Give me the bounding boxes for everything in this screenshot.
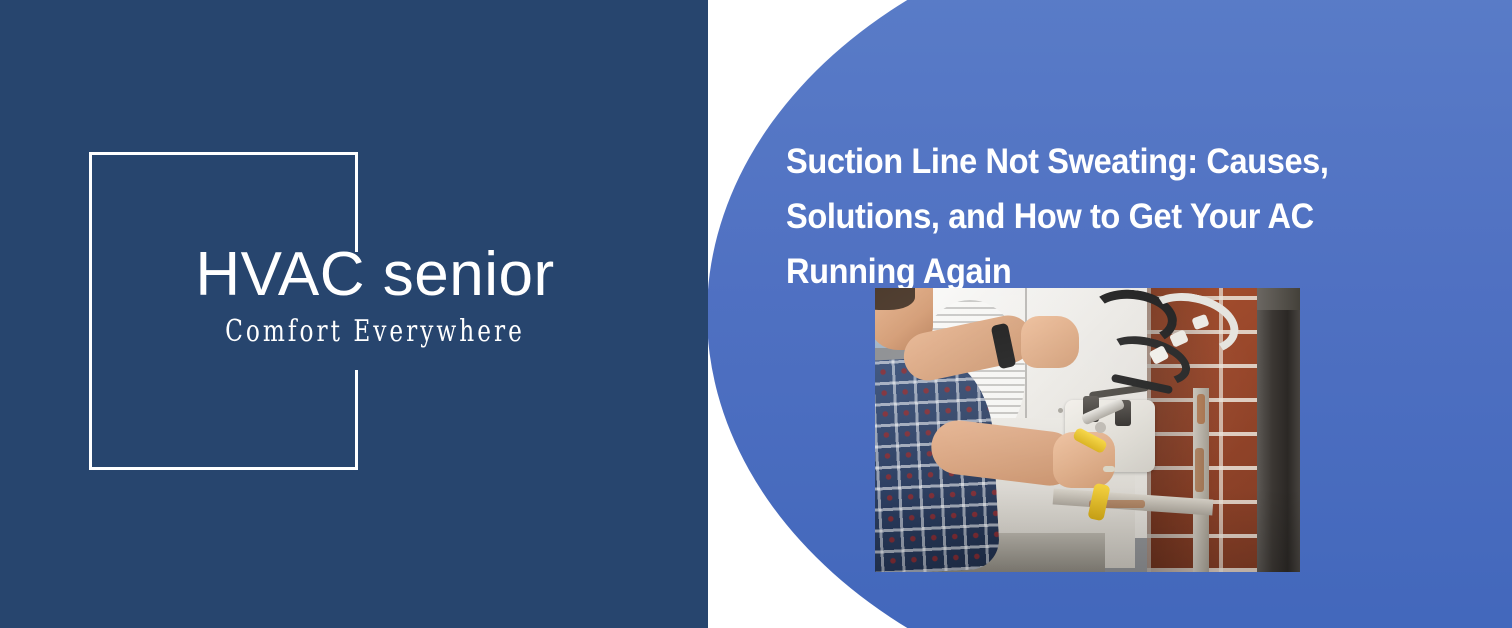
photo-color-grade xyxy=(875,288,1300,572)
logo-frame-right-edge-upper xyxy=(355,152,358,252)
feature-content: Suction Line Not Sweating: Causes, Solut… xyxy=(708,0,1512,628)
logo-frame-right-edge-lower xyxy=(355,370,358,470)
article-banner: HVAC senior Comfort Everywhere Suction L… xyxy=(0,0,1512,628)
photo-illustration xyxy=(875,288,1300,572)
article-photo xyxy=(875,288,1300,572)
logo-frame-bottom-edge xyxy=(89,467,358,470)
logo-wordmark: HVAC senior xyxy=(42,242,708,308)
logo-tagline: Comfort Everywhere xyxy=(89,314,662,350)
logo-lockup: HVAC senior Comfort Everywhere xyxy=(0,242,708,350)
page-title: Suction Line Not Sweating: Causes, Solut… xyxy=(786,134,1344,299)
brand-panel: HVAC senior Comfort Everywhere xyxy=(0,0,708,628)
logo-frame-top-edge xyxy=(89,152,358,155)
